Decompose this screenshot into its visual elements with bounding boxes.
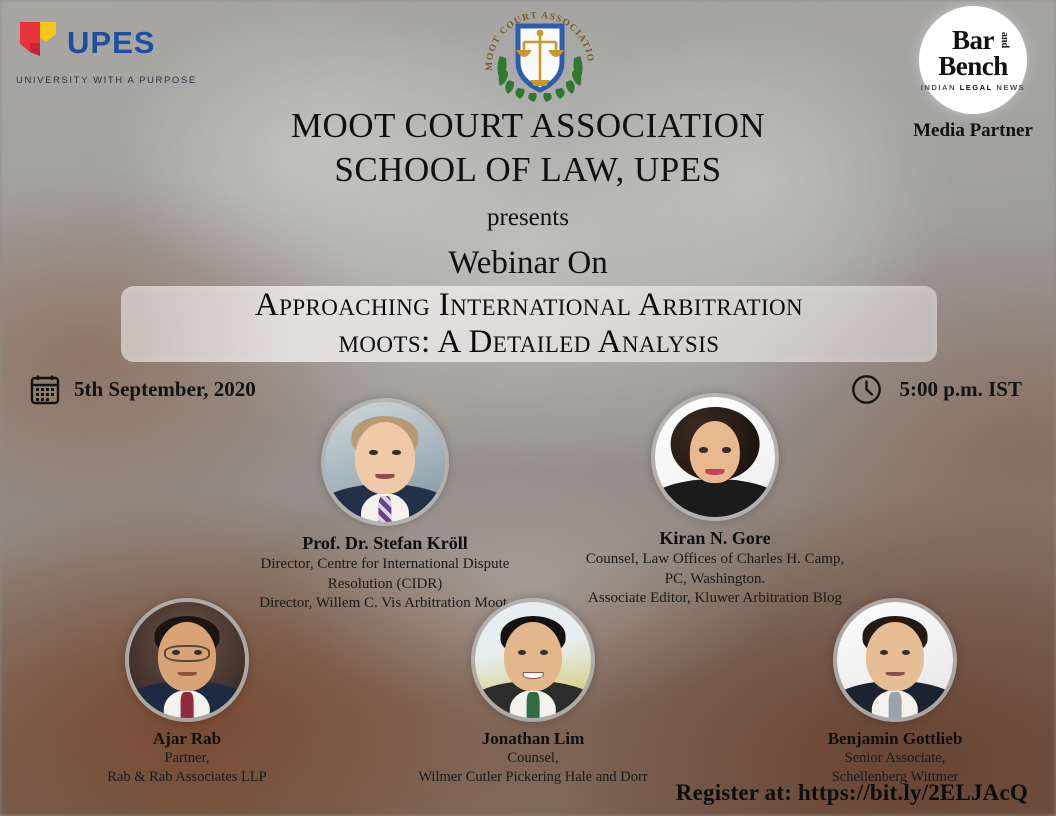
upes-wordmark: UPES xyxy=(67,27,155,58)
org-title-line1: MOOT COURT ASSOCIATION xyxy=(0,104,1056,148)
upes-logo: UPES UNIVERSITY WITH A PURPOSE xyxy=(16,18,186,86)
speaker-portrait-kiran-gore-icon xyxy=(651,393,779,521)
speaker-role-line1: Director, Centre for International Dispu… xyxy=(240,555,530,574)
speaker-portrait-ajar-rab-icon xyxy=(125,598,249,722)
speaker-role-line2: Resolution (CIDR) xyxy=(240,575,530,594)
speaker-card-jonathan-lim: Jonathan Lim Counsel, Wilmer Cutler Pick… xyxy=(398,598,668,787)
speaker-name: Kiran N. Gore xyxy=(570,528,860,549)
speaker-role-line1: Counsel, Law Offices of Charles H. Camp, xyxy=(570,550,860,569)
bar-and-bench-tagline: INDIAN LEGAL NEWS xyxy=(921,83,1025,92)
speaker-card-kiran-gore: Kiran N. Gore Counsel, Law Offices of Ch… xyxy=(570,393,860,608)
tagline-suffix: NEWS xyxy=(993,83,1025,92)
speaker-name: Prof. Dr. Stefan Kröll xyxy=(240,533,530,554)
speaker-card-benjamin-gottlieb: Benjamin Gottlieb Senior Associate, Sche… xyxy=(770,598,1020,787)
speaker-name: Jonathan Lim xyxy=(398,729,668,749)
and-text: and xyxy=(1000,32,1009,48)
calendar-icon xyxy=(30,374,60,405)
bar-text: Bar xyxy=(952,25,994,55)
organisation-title: MOOT COURT ASSOCIATION SCHOOL OF LAW, UP… xyxy=(0,104,1056,192)
register-link[interactable]: Register at: https://bit.ly/2ELJAcQ xyxy=(676,780,1028,806)
tagline-prefix: INDIAN xyxy=(921,83,960,92)
presents-label: presents xyxy=(0,204,1056,232)
speaker-portrait-benjamin-gottlieb-icon xyxy=(833,598,957,722)
speaker-name: Benjamin Gottlieb xyxy=(770,729,1020,749)
event-time-text: 5:00 p.m. IST xyxy=(899,377,1022,402)
upes-tagline: UNIVERSITY WITH A PURPOSE xyxy=(16,75,186,86)
scales-of-justice-shield-laurel-logo-icon: MOOT COURT ASSOCIATION xyxy=(478,4,602,104)
event-date-text: 5th September, 2020 xyxy=(74,377,256,402)
bar-and-bench-line1: Bar and xyxy=(952,28,994,53)
webinar-poster: UPES UNIVERSITY WITH A PURPOSE MOOT COUR… xyxy=(0,0,1056,816)
speaker-name: Ajar Rab xyxy=(62,729,312,749)
tagline-bold: LEGAL xyxy=(960,83,993,92)
bar-and-bench-line2: Bench xyxy=(938,54,1008,80)
speaker-card-ajar-rab: Ajar Rab Partner, Rab & Rab Associates L… xyxy=(62,598,312,787)
speaker-portrait-jonathan-lim-icon xyxy=(471,598,595,722)
webinar-topic-banner: Approaching International Arbitration mo… xyxy=(121,286,937,362)
speaker-role-line2: PC, Washington. xyxy=(570,570,860,589)
upes-shield-logo-icon xyxy=(16,18,58,67)
speaker-portrait-stefan-kroll-icon xyxy=(321,398,449,526)
speaker-card-stefan-kroll: Prof. Dr. Stefan Kröll Director, Centre … xyxy=(240,398,530,613)
webinar-on-label: Webinar On xyxy=(0,245,1056,282)
speaker-role-line2: Rab & Rab Associates LLP xyxy=(62,769,312,787)
topic-line2: moots: A Detailed Analysis xyxy=(339,324,720,361)
event-time: 5:00 p.m. IST xyxy=(851,374,1022,405)
org-title-line2: SCHOOL OF LAW, UPES xyxy=(0,148,1056,192)
mca-logo: MOOT COURT ASSOCIATION xyxy=(478,4,602,104)
speaker-role-line1: Counsel, xyxy=(398,750,668,768)
event-date: 5th September, 2020 xyxy=(30,374,256,405)
topic-line1: Approaching International Arbitration xyxy=(255,287,803,324)
speaker-role-line1: Senior Associate, xyxy=(770,750,1020,768)
speaker-role-line2: Wilmer Cutler Pickering Hale and Dorr xyxy=(398,769,668,787)
speaker-role-line1: Partner, xyxy=(62,750,312,768)
bar-and-bench-circle-logo-icon: Bar and Bench INDIAN LEGAL NEWS xyxy=(919,6,1027,114)
